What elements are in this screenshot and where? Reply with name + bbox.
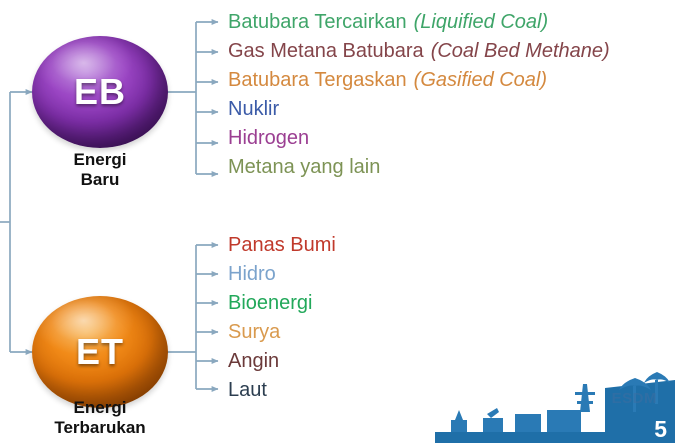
diagram-canvas: EB Energi Baru ET Energi Terbarukan Batu…: [0, 0, 675, 443]
node-et[interactable]: ET: [32, 296, 168, 408]
node-et-caption-line2: Terbarukan: [0, 418, 210, 438]
branch-list-eb: Batubara Tercairkan(Liquified Coal)Gas M…: [228, 8, 610, 182]
branch-item-label: Gas Metana Batubara: [228, 40, 424, 63]
branch-item-label: Nuklir: [228, 98, 279, 121]
node-eb[interactable]: EB: [32, 36, 168, 148]
branch-item-label: Batubara Tergaskan: [228, 69, 407, 92]
branch-item-label: Metana yang lain: [228, 156, 380, 179]
page-number: 5: [654, 418, 667, 441]
branch-item-english: (Coal Bed Methane): [431, 40, 610, 63]
footer-artwork: ESDM 5: [435, 368, 675, 443]
node-eb-caption: Energi Baru: [0, 150, 210, 190]
branch-item[interactable]: Batubara Tercairkan(Liquified Coal): [228, 8, 610, 37]
watermark-text: ESDM: [612, 390, 657, 407]
branch-item-label: Batubara Tercairkan: [228, 11, 407, 34]
node-et-caption-line1: Energi: [0, 398, 210, 418]
branch-item-label: Panas Bumi: [228, 234, 336, 257]
branch-item-label: Laut: [228, 379, 267, 402]
branch-item-label: Surya: [228, 321, 280, 344]
branch-item-label: Hidrogen: [228, 127, 309, 150]
branch-item[interactable]: Bioenergi: [228, 289, 336, 318]
branch-item-label: Hidro: [228, 263, 276, 286]
branch-item-label: Bioenergi: [228, 292, 313, 315]
branch-list-et: Panas BumiHidroBioenergiSuryaAnginLaut: [228, 231, 336, 405]
branch-item[interactable]: Hidro: [228, 260, 336, 289]
branch-item[interactable]: Surya: [228, 318, 336, 347]
branch-item[interactable]: Angin: [228, 347, 336, 376]
branch-item-english: (Liquified Coal): [414, 11, 549, 34]
branch-item[interactable]: Laut: [228, 376, 336, 405]
branch-item[interactable]: Panas Bumi: [228, 231, 336, 260]
node-et-abbr: ET: [32, 296, 168, 408]
node-eb-abbr: EB: [32, 36, 168, 148]
branch-item[interactable]: Nuklir: [228, 95, 610, 124]
branch-item[interactable]: Batubara Tergaskan(Gasified Coal): [228, 66, 610, 95]
node-eb-caption-line1: Energi: [0, 150, 210, 170]
branch-item-label: Angin: [228, 350, 279, 373]
node-et-caption: Energi Terbarukan: [0, 398, 210, 438]
node-eb-caption-line2: Baru: [0, 170, 210, 190]
branch-item[interactable]: Gas Metana Batubara(Coal Bed Methane): [228, 37, 610, 66]
branch-item-english: (Gasified Coal): [414, 69, 547, 92]
branch-item[interactable]: Metana yang lain: [228, 153, 610, 182]
branch-item[interactable]: Hidrogen: [228, 124, 610, 153]
